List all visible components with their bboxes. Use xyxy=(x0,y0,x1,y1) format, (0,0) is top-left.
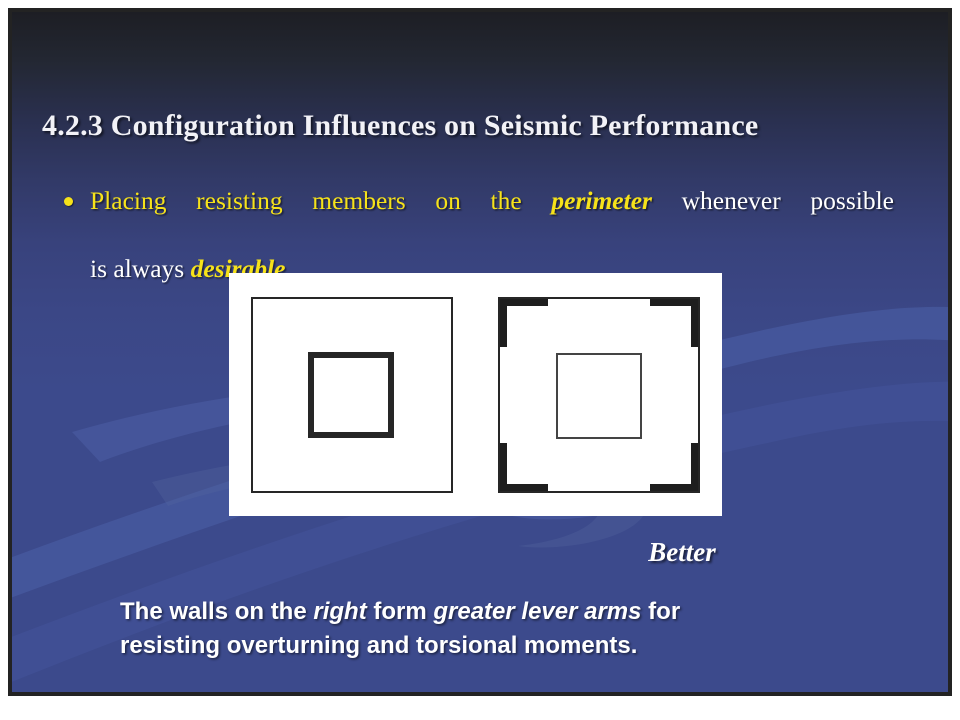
perimeter-wall-bottom-left-horizontal xyxy=(500,484,548,491)
bullet-seg-tail: whenever possible xyxy=(652,186,894,215)
perimeter-wall-plan-figure xyxy=(498,297,700,493)
caption-seg-3: form xyxy=(367,598,434,625)
bullet-seg-lead: Placing resisting members on the xyxy=(90,186,551,215)
core-plan-central-core-wall xyxy=(308,352,394,438)
bullet-line-1: Placing resisting members on the perimet… xyxy=(90,184,894,252)
caption-seg-1: The walls on the xyxy=(120,598,313,625)
slide-root: 4.2.3 Configuration Influences on Seismi… xyxy=(0,0,960,720)
bullet-emphasis-perimeter: perimeter xyxy=(551,186,652,215)
perimeter-wall-top-left-vertical xyxy=(500,299,507,347)
caption-emphasis-right: right xyxy=(313,598,366,625)
bullet-marker-icon xyxy=(64,197,73,206)
caption-line-1: The walls on the right form greater leve… xyxy=(120,595,880,629)
page-title: 4.2.3 Configuration Influences on Seismi… xyxy=(42,108,932,144)
better-label: Better xyxy=(572,537,792,568)
core-wall-plan-figure xyxy=(251,297,453,493)
diagram-panel xyxy=(229,273,722,516)
caption-emphasis-lever-arms: greater lever arms xyxy=(433,598,641,625)
caption-seg-5: for xyxy=(642,598,681,625)
perimeter-wall-top-left-horizontal xyxy=(500,299,548,306)
slide-frame: 4.2.3 Configuration Influences on Seismi… xyxy=(8,8,952,696)
perimeter-wall-top-right-vertical xyxy=(691,299,698,347)
bullet-item: Placing resisting members on the perimet… xyxy=(64,184,894,286)
perimeter-wall-bottom-left-vertical xyxy=(500,443,507,491)
caption-line-2: resisting overturning and torsional mome… xyxy=(120,629,880,663)
perimeter-wall-bottom-right-vertical xyxy=(691,443,698,491)
perimeter-plan-central-core-outline xyxy=(556,353,642,439)
bullet-text: Placing resisting members on the perimet… xyxy=(90,184,894,286)
bullet-seg-lead2: is always xyxy=(90,254,191,283)
bottom-caption: The walls on the right form greater leve… xyxy=(120,595,880,663)
